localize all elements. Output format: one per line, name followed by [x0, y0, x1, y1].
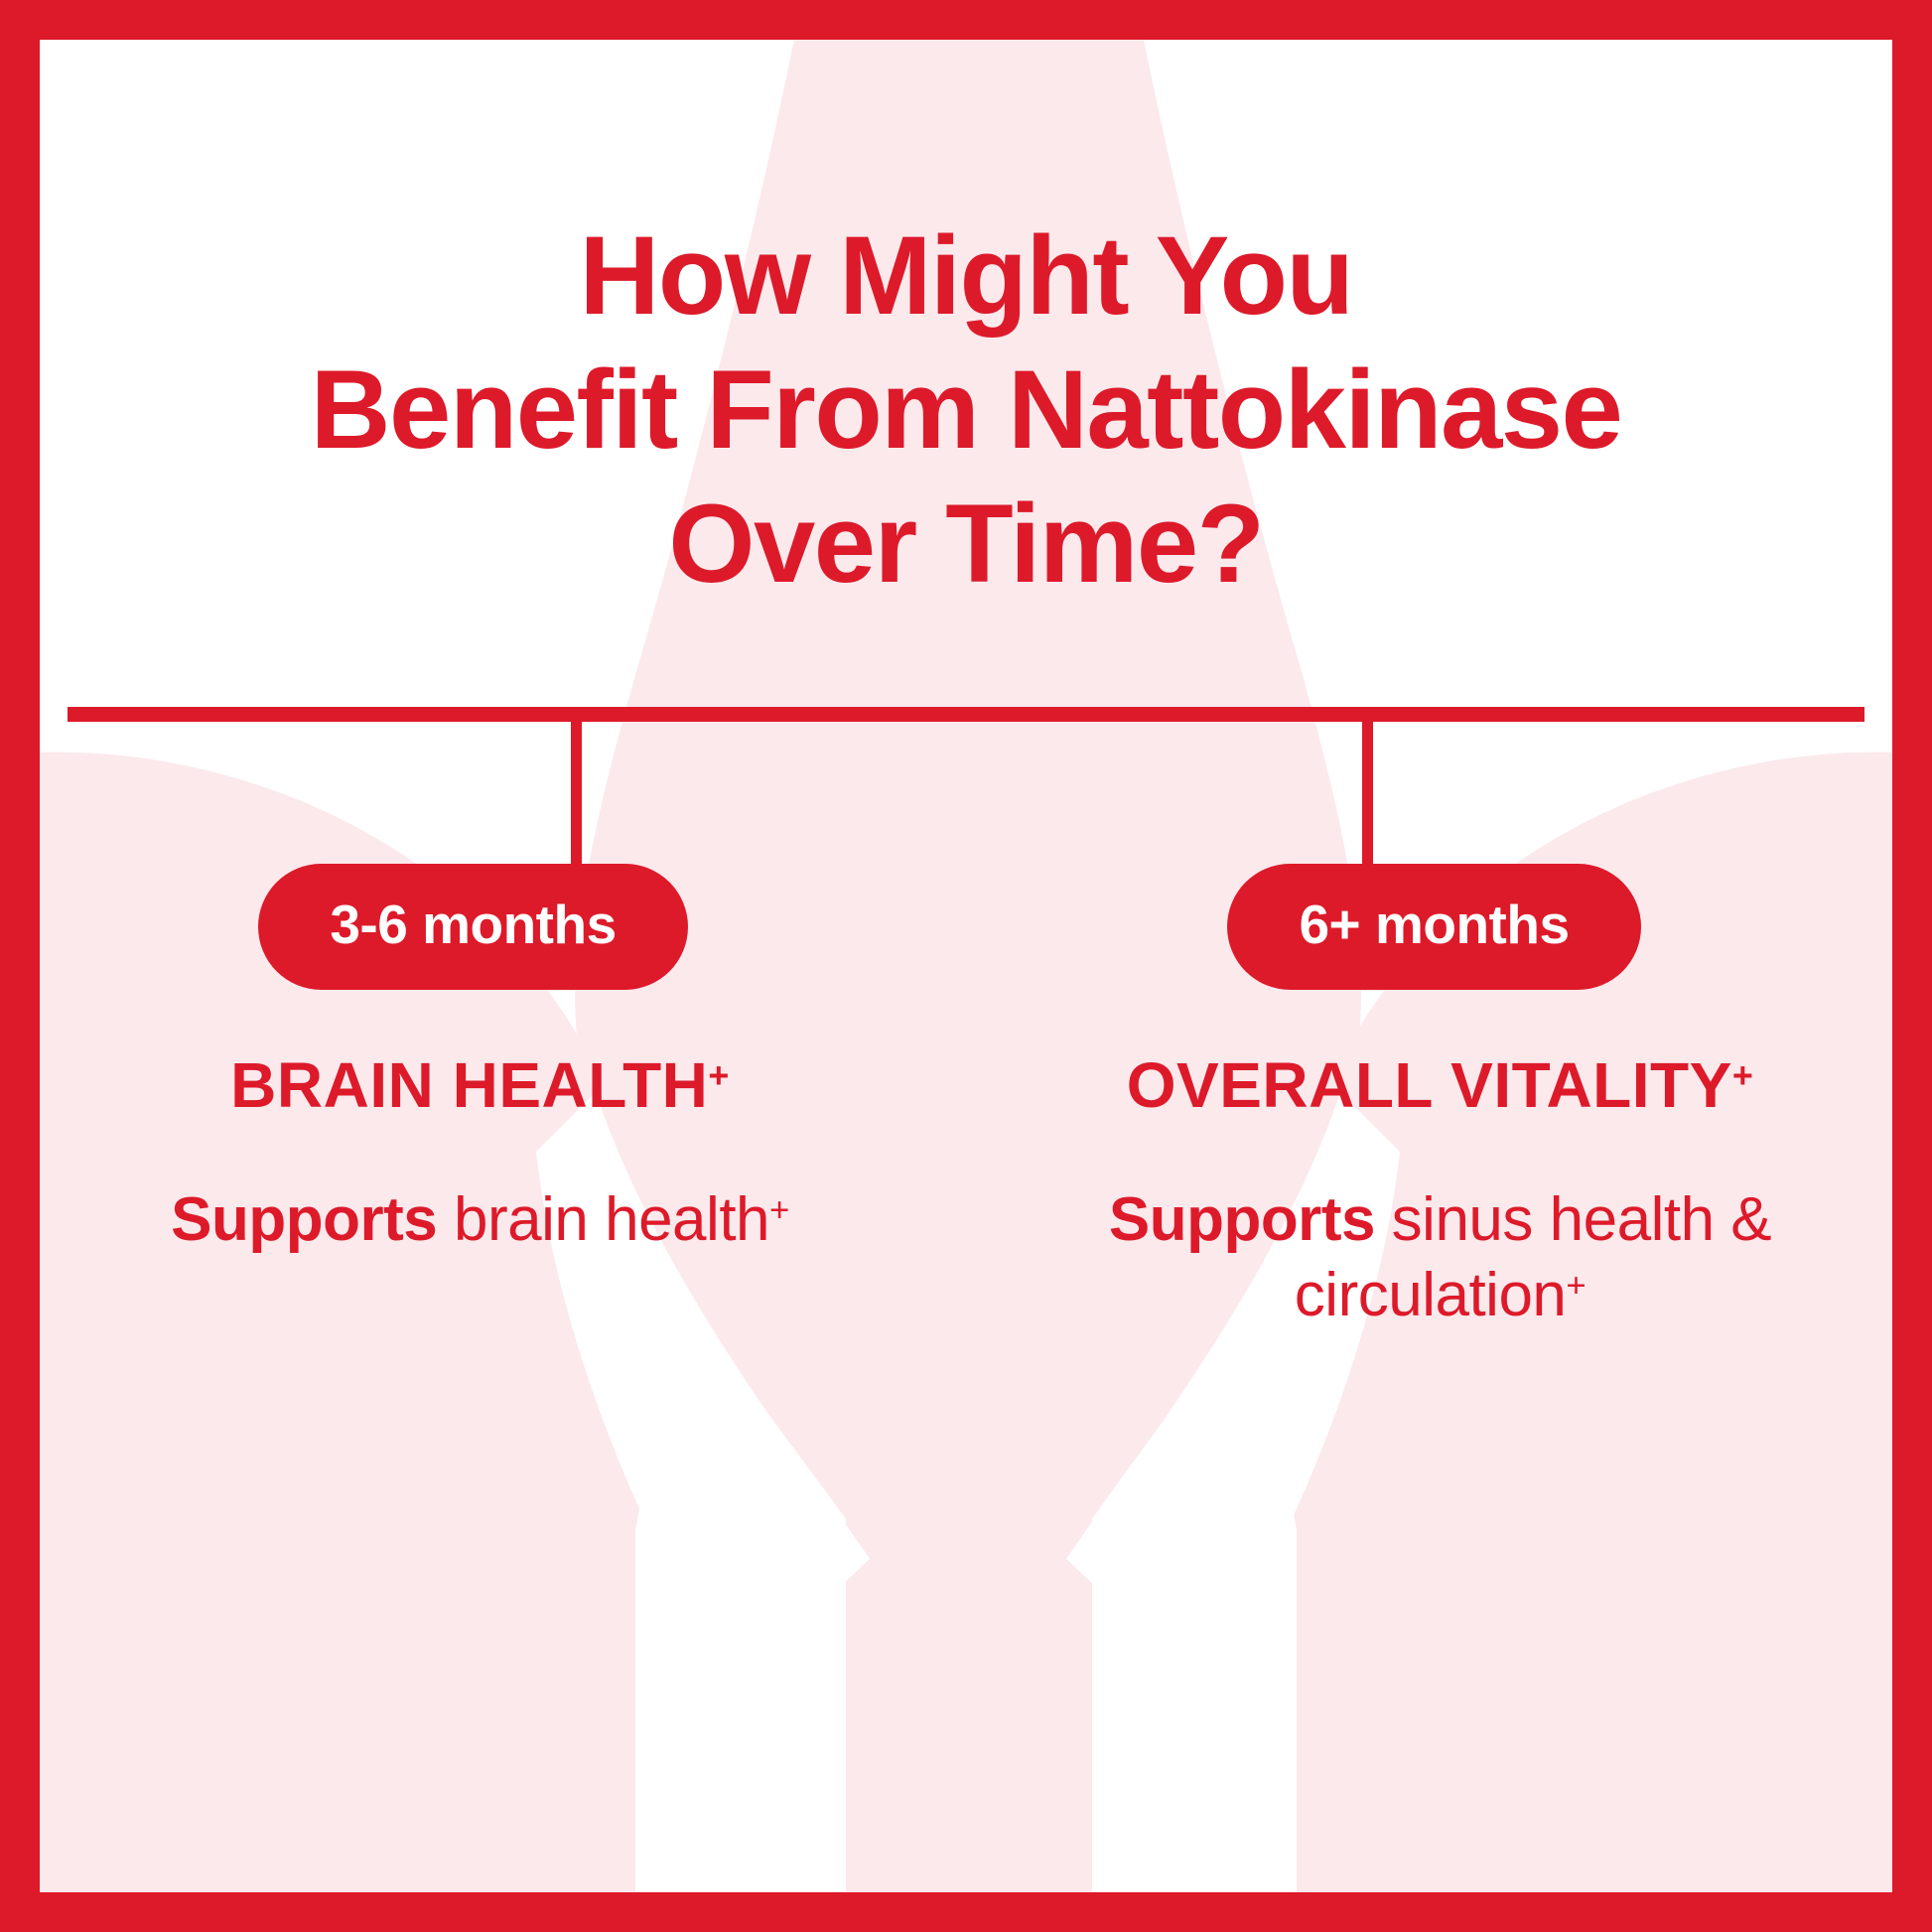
benefit-desc-mark-left: +	[769, 1191, 789, 1229]
infographic-canvas: How Might You Benefit From Nattokinase O…	[0, 0, 1932, 1932]
title-line-3: Over Time?	[40, 477, 1892, 611]
timeline-column-brain-health: 3-6 months BRAIN HEALTH+ Supports brain …	[40, 864, 966, 1559]
benefit-desc-rest-left: brain health	[437, 1185, 769, 1254]
benefit-title-brain-health: BRAIN HEALTH+	[230, 1049, 730, 1121]
benefit-title-mark-right: +	[1732, 1055, 1753, 1095]
timeline-divider	[68, 707, 1864, 722]
timeline-columns: 3-6 months BRAIN HEALTH+ Supports brain …	[40, 864, 1892, 1559]
timeframe-badge-6-plus-months[interactable]: 6+ months	[1227, 864, 1640, 990]
timeline-column-overall-vitality: 6+ months OVERALL VITALITY+ Supports sin…	[966, 864, 1892, 1559]
benefit-desc-mark-right: +	[1566, 1267, 1586, 1305]
benefit-title-overall-vitality: OVERALL VITALITY+	[1127, 1049, 1754, 1121]
timeframe-badge-3-6-months[interactable]: 3-6 months	[258, 864, 687, 990]
benefit-desc-bold-right: Supports	[1109, 1185, 1375, 1254]
inner-canvas: How Might You Benefit From Nattokinase O…	[40, 40, 1892, 1892]
title-line-1: How Might You	[40, 208, 1892, 343]
benefit-description-brain-health: Supports brain health+	[171, 1182, 789, 1258]
title-line-2: Benefit From Nattokinase	[40, 343, 1892, 477]
benefit-title-mark-left: +	[708, 1055, 729, 1095]
benefit-desc-bold-left: Supports	[171, 1185, 437, 1254]
benefit-title-text-left: BRAIN HEALTH	[230, 1049, 708, 1121]
benefit-description-overall-vitality: Supports sinus health & circulation+	[988, 1182, 1892, 1333]
benefit-title-text-right: OVERALL VITALITY	[1127, 1049, 1732, 1121]
page-title: How Might You Benefit From Nattokinase O…	[40, 208, 1892, 611]
